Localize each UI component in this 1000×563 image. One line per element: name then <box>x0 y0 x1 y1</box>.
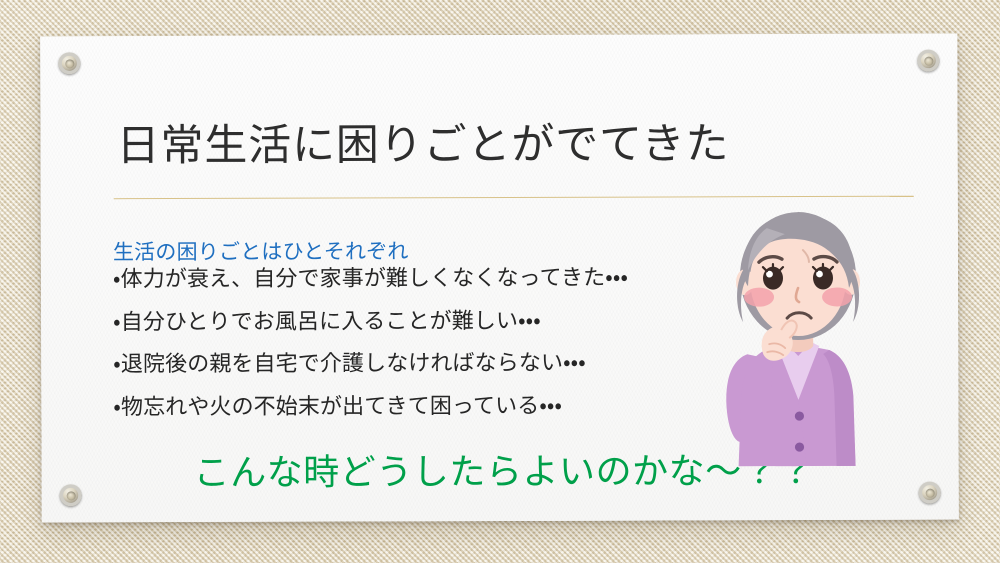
slide-title: 日常生活に困りごとがでてきた <box>117 120 730 171</box>
grommet-bottom-right-icon <box>919 482 941 504</box>
title-divider <box>114 196 914 200</box>
list-item: ・物忘れや火の不始末が出てきて困っている・・・ <box>113 384 628 428</box>
worried-elderly-woman-illustration <box>703 204 894 495</box>
list-item: ・自分ひとりでお風呂に入ることが難しい・・・ <box>113 299 628 343</box>
list-item: ・退院後の親を自宅で介護しなければならない・・・ <box>113 342 628 386</box>
white-board-card: 日常生活に困りごとがでてきた 生活の困りごとはひとそれぞれ ・体力が衰え、自分で… <box>40 34 959 523</box>
grommet-top-right-icon <box>917 50 939 72</box>
grommet-top-left-icon <box>58 52 80 74</box>
concerns-list: ・体力が衰え、自分で家事が難しくなくなってきた・・・ ・自分ひとりでお風呂に入る… <box>113 257 629 429</box>
cardigan-button-bottom <box>795 442 804 451</box>
right-blush <box>822 287 852 306</box>
slide-canvas: 日常生活に困りごとがでてきた 生活の困りごとはひとそれぞれ ・体力が衰え、自分で… <box>0 0 1000 563</box>
left-blush <box>744 288 774 307</box>
grommet-bottom-left-icon <box>60 484 82 506</box>
cardigan-button-top <box>795 411 804 420</box>
list-item: ・体力が衰え、自分で家事が難しくなくなってきた・・・ <box>113 257 628 301</box>
